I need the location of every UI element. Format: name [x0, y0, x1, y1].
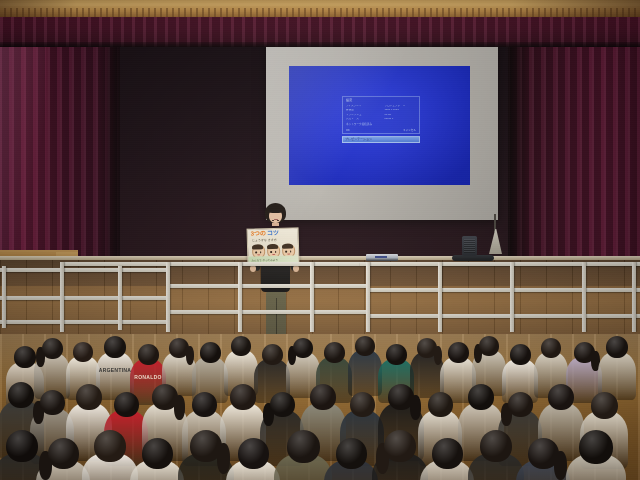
- child-head: [73, 342, 93, 362]
- child-head: [350, 392, 375, 417]
- curtain-edge-shadow: [98, 15, 120, 270]
- audience-child: [130, 438, 184, 480]
- child-head: [479, 336, 499, 356]
- poster-subtitle: じょうずな きき方: [252, 239, 277, 243]
- child-head: [76, 384, 102, 410]
- photo-scene: 設定 ディスプレイ 解像度 リフレッシュ 入力ソース プロジェクター 1 128…: [0, 0, 640, 480]
- poster-face-eye: [275, 251, 277, 253]
- child-head: [42, 338, 63, 359]
- child-head: [48, 438, 79, 469]
- audience-child: [420, 438, 474, 480]
- stage-edge-lip: [0, 256, 640, 260]
- pelmet-hem: [0, 42, 640, 47]
- child-head: [310, 384, 336, 410]
- speaker-grill: [464, 239, 475, 253]
- child-head: [138, 344, 159, 365]
- speaker-icon: [462, 236, 477, 256]
- child-head: [428, 392, 453, 417]
- child-head: [448, 342, 469, 363]
- child-head: [270, 392, 295, 417]
- child-head: [6, 430, 38, 462]
- rail-bar-horizontal: [60, 262, 360, 266]
- jersey-text: RONALDO: [130, 375, 166, 381]
- child-head: [591, 392, 618, 419]
- rail-post-vertical: [366, 262, 370, 332]
- child-head: [200, 342, 221, 363]
- rail-post-vertical: [582, 262, 586, 332]
- child-head: [114, 392, 139, 417]
- curtain-edge-shadow: [508, 15, 530, 270]
- audience: ARGENTINARONALDO: [0, 326, 640, 480]
- curtain-pelmet: [0, 15, 640, 47]
- poster-title-word: コツ: [267, 231, 279, 237]
- child-head: [468, 384, 494, 410]
- poster-title: 3つの コツ: [251, 231, 280, 238]
- child-head: [231, 336, 251, 356]
- child-head: [386, 344, 407, 365]
- child-head: [94, 430, 126, 462]
- child-head: [480, 430, 512, 462]
- rail-post-vertical: [310, 262, 314, 332]
- screen-glare: [266, 40, 498, 220]
- projection-screen: 設定 ディスプレイ 解像度 リフレッシュ 入力ソース プロジェクター 1 128…: [266, 40, 498, 220]
- rail-post-vertical: [510, 262, 514, 332]
- child-head: [355, 336, 375, 356]
- audience-child: [516, 438, 570, 480]
- jersey-text: ARGENTINA: [96, 368, 134, 374]
- child-head: [230, 384, 256, 410]
- child-head: [336, 438, 367, 469]
- child-head: [432, 438, 463, 469]
- child-head: [169, 338, 189, 358]
- poster-face-eye: [271, 251, 273, 253]
- child-head: [192, 392, 217, 417]
- rail-bar-horizontal: [166, 284, 366, 288]
- rail-post-vertical: [166, 262, 170, 332]
- rail-post-vertical: [2, 266, 6, 328]
- poster-face-eye: [256, 251, 258, 253]
- rail-post-vertical: [238, 262, 242, 332]
- child-head: [293, 338, 313, 358]
- child-torso: [348, 350, 382, 396]
- audience-child: [566, 430, 626, 480]
- child-head: [606, 336, 628, 358]
- rail-post-vertical: [118, 266, 122, 330]
- child-head: [238, 438, 269, 469]
- audience-child: [324, 438, 378, 480]
- child-head: [142, 438, 173, 469]
- child-head: [541, 338, 561, 358]
- rail-bar-horizontal: [0, 320, 166, 324]
- rail-bar-horizontal: [360, 262, 640, 266]
- child-head: [14, 346, 36, 368]
- child-head: [40, 390, 65, 415]
- curtain-sheer-overlay: [0, 15, 46, 270]
- child-head: [384, 430, 416, 462]
- poster-face-eye: [290, 251, 292, 253]
- child-head: [508, 392, 533, 417]
- rail-bar-horizontal: [366, 288, 640, 292]
- child-head: [548, 384, 574, 410]
- held-poster: 3つの コツ じょうずな きき方: [247, 227, 300, 264]
- rail-post-vertical: [438, 262, 442, 332]
- child-head: [190, 430, 222, 462]
- poster-title-number: 3つの: [251, 231, 266, 237]
- poster-face-eye: [260, 251, 262, 253]
- child-head: [574, 342, 595, 363]
- rail-post-vertical: [60, 262, 64, 332]
- valance-shading: [0, 0, 640, 17]
- child-head: [262, 344, 283, 365]
- child-head: [528, 438, 559, 469]
- rail-bar-horizontal: [0, 296, 166, 300]
- child-head: [417, 338, 437, 358]
- presenter-fringe: [266, 205, 285, 213]
- child-head: [324, 342, 345, 363]
- presenter-eye: [277, 220, 279, 221]
- child-head: [510, 344, 531, 365]
- presenter-eye: [272, 220, 274, 221]
- rail-bar-horizontal: [366, 314, 640, 318]
- rail-bar-horizontal: [0, 268, 166, 272]
- poster-face-hair: [267, 244, 278, 249]
- stage-curtain-right: [508, 15, 640, 270]
- child-head: [152, 384, 178, 410]
- child-head: [388, 384, 414, 410]
- child-head: [287, 430, 320, 463]
- laptop-icon: [366, 254, 398, 261]
- rail-post-vertical: [632, 262, 636, 332]
- child-head: [104, 336, 126, 358]
- audience-child: [226, 438, 280, 480]
- child-head: [579, 430, 613, 464]
- poster-face-eye: [286, 251, 288, 253]
- poster-face-hair: [252, 245, 263, 250]
- rail-bar-horizontal: [166, 310, 366, 314]
- laptop-screen: [375, 256, 387, 258]
- poster-face-hair: [282, 244, 293, 249]
- stage-valance: [0, 0, 640, 17]
- stage-curtain-left: [0, 15, 120, 270]
